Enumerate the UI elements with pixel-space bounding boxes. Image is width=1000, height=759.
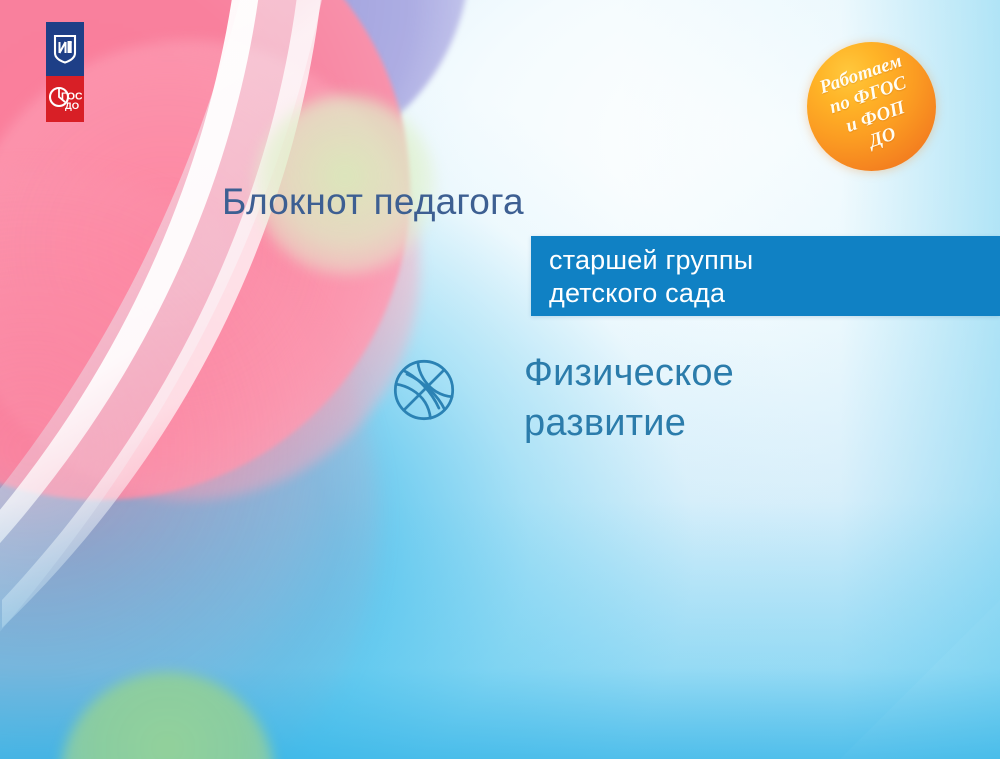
cover-page: ГОС ДО Работаем по ФГОС и ФОП ДО Блокнот…: [0, 0, 1000, 759]
violet-blob-secondary: [40, 0, 470, 170]
publisher-logo: ГОС ДО: [46, 22, 84, 122]
group-banner: старшей группы детского сада: [531, 236, 1000, 316]
domain-title: Физическое развитие: [524, 348, 734, 448]
fgos-do-seal-icon: ГОС ДО: [48, 83, 82, 115]
fgos-fop-badge-text: Работаем по ФГОС и ФОП ДО: [816, 50, 926, 163]
fgos-fop-badge: Работаем по ФГОС и ФОП ДО: [807, 42, 936, 171]
page-title: Блокнот педагога: [222, 181, 524, 223]
pink-blob-edge: [0, 170, 380, 759]
domain-row: Физическое развитие: [390, 348, 860, 448]
green-blob-bottom: [60, 672, 275, 759]
ip-shield-icon: [52, 34, 78, 64]
publisher-logo-bottom-mark: ГОС ДО: [46, 76, 84, 122]
publisher-logo-top-mark: [46, 22, 84, 76]
basketball-icon: [390, 356, 458, 424]
group-banner-text: старшей группы детского сада: [549, 244, 753, 311]
svg-text:ДО: ДО: [65, 101, 79, 112]
